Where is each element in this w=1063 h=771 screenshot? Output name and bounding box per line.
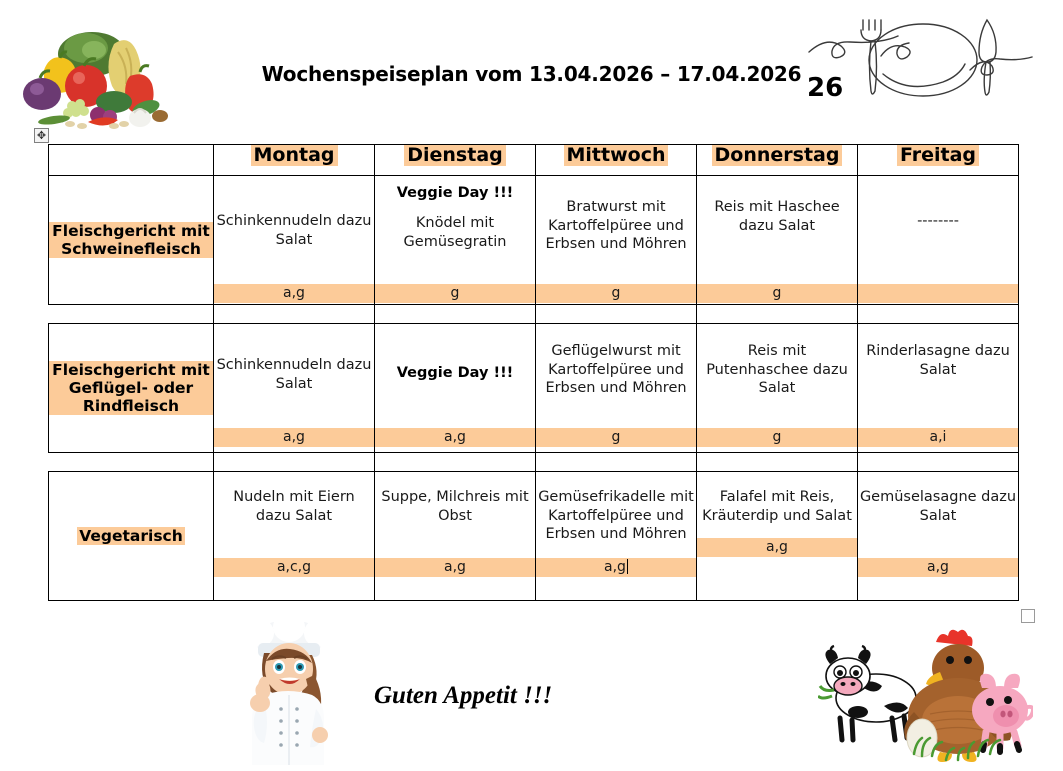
day-header-label: Montag: [251, 145, 338, 166]
dish-text: Nudeln mit Eiern dazu Salat: [214, 488, 374, 525]
spacer-cell: [214, 453, 375, 472]
spacer-cell: [858, 305, 1019, 324]
text-cursor: [627, 559, 628, 574]
day-header-mittwoch: Mittwoch: [536, 145, 697, 176]
dish-text: Schinkennudeln dazu Salat: [214, 356, 374, 393]
farm-animals-illustration: [818, 620, 1033, 768]
row-label-cell-vegetarisch: Vegetarisch: [49, 472, 214, 601]
dish-text: Falafel mit Reis, Kräuterdip und Salat: [697, 488, 857, 525]
spacer-cell: [375, 305, 536, 324]
allergen-badge: a,g: [697, 538, 857, 557]
day-header-dienstag: Dienstag: [375, 145, 536, 176]
spacer-cell: [858, 453, 1019, 472]
allergen-badge: a,g: [214, 428, 374, 447]
menu-cell-schweinefleisch-dienstag[interactable]: Veggie Day !!! Knödel mit Gemüsegratin g: [375, 176, 536, 305]
dish-text: Reis mit Putenhaschee dazu Salat: [697, 342, 857, 398]
chef-illustration: [228, 617, 350, 767]
allergen-badge: [858, 284, 1018, 303]
dish-text: Knödel mit Gemüsegratin: [375, 214, 535, 251]
menu-cell-schweinefleisch-donnerstag[interactable]: Reis mit Haschee dazu Salat g: [697, 176, 858, 305]
menu-cell-vegetarisch-freitag[interactable]: Gemüselasagne dazu Salat a,g: [858, 472, 1019, 601]
veggie-day-note: Veggie Day !!!: [375, 184, 535, 203]
dish-text: Suppe, Milchreis mit Obst: [375, 488, 535, 525]
spacer-cell: [214, 305, 375, 324]
veggie-day-note: Veggie Day !!!: [375, 364, 535, 383]
menu-cell-gefluegel-mittwoch[interactable]: Geflügelwurst mit Kartoffelpüree und Erb…: [536, 324, 697, 453]
page-title: Wochenspeiseplan vom 13.04.2026 – 17.04.…: [0, 62, 1063, 86]
menu-cell-schweinefleisch-freitag[interactable]: --------: [858, 176, 1019, 305]
dish-text: --------: [858, 212, 1018, 231]
allergen-badge: a,g: [858, 558, 1018, 577]
menu-cell-vegetarisch-montag[interactable]: Nudeln mit Eiern dazu Salat a,c,g: [214, 472, 375, 601]
allergen-badge: a,g: [536, 558, 696, 577]
row-label: Fleischgericht mit Schweinefleisch: [49, 222, 213, 259]
day-header-freitag: Freitag: [858, 145, 1019, 176]
allergen-badge: g: [536, 428, 696, 447]
dish-text: Schinkennudeln dazu Salat: [214, 212, 374, 249]
allergen-badge: g: [697, 428, 857, 447]
spacer-cell: [49, 305, 214, 324]
menu-cell-schweinefleisch-mittwoch[interactable]: Bratwurst mit Kartoffelpüree und Erbsen …: [536, 176, 697, 305]
menu-cell-vegetarisch-mittwoch[interactable]: Gemüsefrikadelle mit Kartoffelpüree und …: [536, 472, 697, 601]
dish-text: Gemüselasagne dazu Salat: [858, 488, 1018, 525]
spacer-cell: [536, 305, 697, 324]
allergen-text: a,g: [604, 559, 626, 575]
spacer-cell: [375, 453, 536, 472]
spacer-cell: [536, 453, 697, 472]
allergen-badge: a,c,g: [214, 558, 374, 577]
day-header-label: Freitag: [897, 145, 979, 166]
guten-appetit-text: Guten Appetit !!!: [374, 682, 552, 710]
selection-handle[interactable]: [1021, 609, 1035, 623]
move-handle-icon[interactable]: ✥: [34, 128, 49, 143]
weekly-menu-table: Montag Dienstag Mittwoch Donnerstag Frei…: [48, 144, 1019, 601]
allergen-badge: g: [697, 284, 857, 303]
spacer-cell: [697, 305, 858, 324]
dish-text: Gemüsefrikadelle mit Kartoffelpüree und …: [536, 488, 696, 544]
allergen-badge: g: [375, 284, 535, 303]
allergen-badge: a,g: [375, 428, 535, 447]
spacer-cell: [697, 453, 858, 472]
dish-text: Rinderlasagne dazu Salat: [858, 342, 1018, 379]
day-header-label: Mittwoch: [564, 145, 669, 166]
row-spacer: [49, 305, 1019, 324]
day-header-donnerstag: Donnerstag: [697, 145, 858, 176]
table-row: Fleischgericht mit Schweinefleisch Schin…: [49, 176, 1019, 305]
fork-plate-knife-logo-icon: 26: [805, 12, 1040, 108]
row-label-cell-gefluegel: Fleischgericht mit Geflügel- oder Rindfl…: [49, 324, 214, 453]
menu-cell-gefluegel-dienstag[interactable]: Veggie Day !!! a,g: [375, 324, 536, 453]
row-label: Vegetarisch: [77, 527, 185, 545]
corner-header-cell: [49, 145, 214, 176]
day-header-montag: Montag: [214, 145, 375, 176]
day-header-label: Donnerstag: [712, 145, 843, 166]
allergen-badge: g: [536, 284, 696, 303]
menu-cell-vegetarisch-donnerstag[interactable]: Falafel mit Reis, Kräuterdip und Salat a…: [697, 472, 858, 601]
table-row: Vegetarisch Nudeln mit Eiern dazu Salat …: [49, 472, 1019, 601]
table-row: Fleischgericht mit Geflügel- oder Rindfl…: [49, 324, 1019, 453]
allergen-badge: a,g: [214, 284, 374, 303]
dish-text: Reis mit Haschee dazu Salat: [697, 198, 857, 235]
spacer-cell: [49, 453, 214, 472]
row-spacer: [49, 453, 1019, 472]
dish-text: Bratwurst mit Kartoffelpüree und Erbsen …: [536, 198, 696, 254]
table-header-row: Montag Dienstag Mittwoch Donnerstag Frei…: [49, 145, 1019, 176]
allergen-badge: a,g: [375, 558, 535, 577]
dish-text: Geflügelwurst mit Kartoffelpüree und Erb…: [536, 342, 696, 398]
day-header-label: Dienstag: [404, 145, 506, 166]
menu-cell-gefluegel-donnerstag[interactable]: Reis mit Putenhaschee dazu Salat g: [697, 324, 858, 453]
menu-cell-schweinefleisch-montag[interactable]: Schinkennudeln dazu Salat a,g: [214, 176, 375, 305]
menu-cell-gefluegel-freitag[interactable]: Rinderlasagne dazu Salat a,i: [858, 324, 1019, 453]
row-label: Fleischgericht mit Geflügel- oder Rindfl…: [49, 361, 213, 416]
row-label-cell-schweinefleisch: Fleischgericht mit Schweinefleisch: [49, 176, 214, 305]
menu-cell-gefluegel-montag[interactable]: Schinkennudeln dazu Salat a,g: [214, 324, 375, 453]
menu-cell-vegetarisch-dienstag[interactable]: Suppe, Milchreis mit Obst a,g: [375, 472, 536, 601]
allergen-badge: a,i: [858, 428, 1018, 447]
